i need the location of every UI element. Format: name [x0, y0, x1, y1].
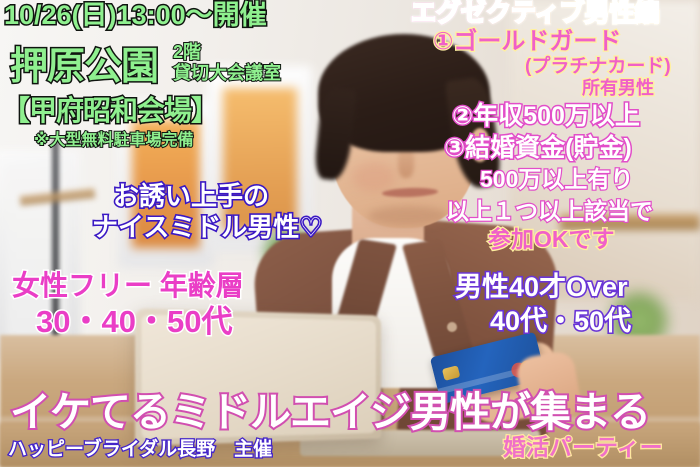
- venue-name: 押原公園: [10, 48, 158, 86]
- venue-floor: 2階: [173, 43, 201, 61]
- venue-area: 【甲府昭和会場】: [2, 97, 218, 125]
- eligibility-line1: 以上１つ以上該当で: [446, 200, 653, 223]
- executive-item-3: 所有男性: [582, 79, 654, 97]
- executive-item-2: (プラチナカード): [525, 57, 671, 76]
- executive-item-1: ①ゴールドガード: [433, 30, 621, 54]
- jacket-button: [447, 322, 457, 332]
- female-conditions-line1: 女性フリー 年齢層: [12, 272, 244, 300]
- chin-shadow: [368, 206, 448, 226]
- executive-item-4: ②年収500万以上: [452, 104, 640, 129]
- event-type-label: 婚活パーティー: [503, 436, 663, 459]
- executive-item-6: 500万以上有り: [480, 168, 633, 191]
- cheek: [352, 162, 396, 192]
- catch-copy-line2: ナイスミドル男性♡: [92, 214, 323, 240]
- event-datetime: 10/26(日)13:00～開催: [4, 2, 267, 29]
- catch-copy-line1: お誘い上手の: [113, 183, 269, 209]
- card-chip-icon: [442, 365, 460, 381]
- executive-item-5: ③結婚資金(貯金): [444, 136, 632, 161]
- poster-root: 10/26(日)13:00～開催 押原公園 2階 貸切大会議室 【甲府昭和会場】…: [0, 0, 700, 467]
- bottom-headline: イケてるミドルエイジ男性が集まる: [10, 392, 650, 433]
- parking-note: ※大型無料駐車場完備: [34, 133, 194, 149]
- executive-title: エグゼクティブ男性編: [411, 1, 660, 26]
- male-conditions-line1: 男性40才Over: [455, 274, 628, 301]
- eligibility-line2: 参加OKです: [488, 228, 615, 251]
- male-conditions-line2: 40代・50代: [490, 308, 631, 335]
- female-conditions-line2: 30・40・50代: [36, 306, 232, 337]
- organizer-credit: ハッピーブライダル長野 主催: [8, 440, 272, 459]
- venue-room: 貸切大会議室: [173, 64, 281, 82]
